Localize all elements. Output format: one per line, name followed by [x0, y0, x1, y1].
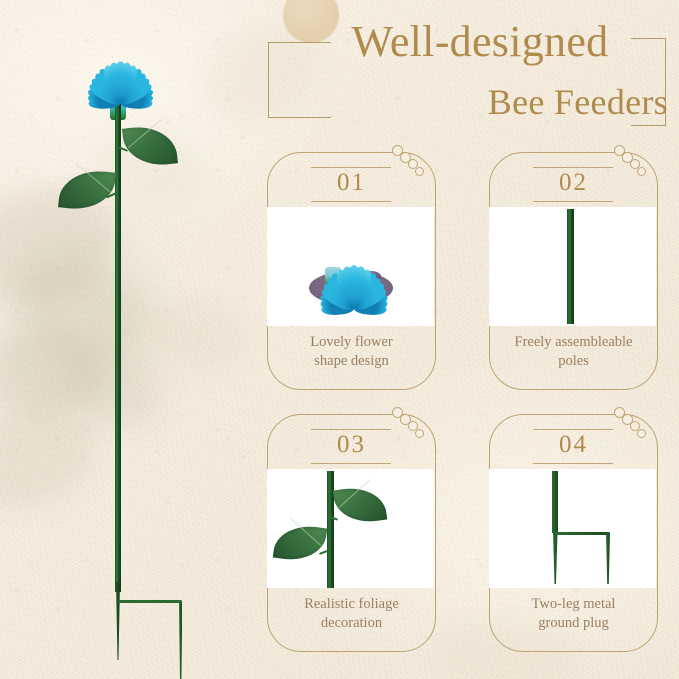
feature-card-02[interactable]: 02 Freely assembleable poles	[489, 152, 658, 390]
card-photo-03	[267, 469, 434, 588]
card-number-rule-bottom	[311, 463, 391, 464]
hero-flower-head	[58, 44, 178, 106]
bead-chain-decoration-02	[614, 143, 662, 191]
bead	[637, 429, 646, 438]
foliage-leaf-upper	[333, 484, 388, 527]
infographic-canvas: Well-designed Bee Feeders 01	[0, 0, 679, 679]
hero-product-image	[36, 22, 236, 662]
caption-line-1: Lovely flower	[310, 334, 393, 350]
hero-leaf-right	[122, 123, 178, 168]
card-photo-02	[489, 207, 656, 326]
feature-card-01[interactable]: 01 Lovely flower shape design	[267, 152, 436, 390]
flower-dish-illustration	[285, 241, 417, 325]
stake-second-leg	[606, 533, 610, 584]
card-caption-01: Lovely flower shape design	[268, 333, 435, 371]
pole-illustration	[567, 209, 574, 324]
stake-main-spike	[553, 532, 558, 584]
hero-pole-spike	[116, 582, 120, 660]
feature-card-03[interactable]: 03 Realistic foliage decoration	[267, 414, 436, 652]
hero-plug-crossbar	[118, 600, 182, 603]
caption-line-1: Two-leg metal	[532, 596, 616, 612]
caption-line-1: Freely assembleable	[515, 334, 633, 350]
bead	[415, 429, 424, 438]
page-title-line1: Well-designed	[300, 20, 660, 64]
bead-chain-decoration-03	[392, 405, 440, 453]
page-title-line2: Bee Feeders	[338, 84, 668, 120]
card-number-rule-bottom	[533, 201, 613, 202]
card-caption-04: Two-leg metal ground plug	[490, 595, 657, 633]
foliage-leaf-lower	[273, 522, 328, 565]
caption-line-2: decoration	[321, 615, 382, 631]
caption-line-2: poles	[558, 353, 589, 369]
bead-chain-decoration-01	[392, 143, 440, 191]
card-number-rule-bottom	[533, 463, 613, 464]
caption-line-2: ground plug	[538, 615, 608, 631]
flower-petal	[346, 265, 362, 307]
caption-line-2: shape design	[314, 353, 389, 369]
bead-chain-decoration-04	[614, 405, 662, 453]
card-photo-01	[267, 207, 434, 326]
card-number-rule-top	[533, 429, 613, 430]
stake-crossbar	[555, 532, 610, 535]
card-number-rule-top	[311, 167, 391, 168]
card-number-rule-top	[311, 429, 391, 430]
pole-illustration	[327, 471, 334, 588]
caption-line-1: Realistic foliage	[304, 596, 399, 612]
feature-card-04[interactable]: 04 Two-leg metal ground plug	[489, 414, 658, 652]
title-block: Well-designed Bee Feeders	[268, 22, 666, 142]
card-number-rule-top	[533, 167, 613, 168]
hero-leaf-left	[58, 167, 116, 212]
card-caption-02: Freely assembleable poles	[490, 333, 657, 371]
hero-pole	[115, 92, 121, 592]
card-photo-04	[489, 469, 656, 588]
card-caption-03: Realistic foliage decoration	[268, 595, 435, 633]
stake-main-shaft	[552, 471, 558, 533]
bead	[637, 167, 646, 176]
card-number-rule-bottom	[311, 201, 391, 202]
flower-petal	[113, 61, 128, 102]
bead	[415, 167, 424, 176]
